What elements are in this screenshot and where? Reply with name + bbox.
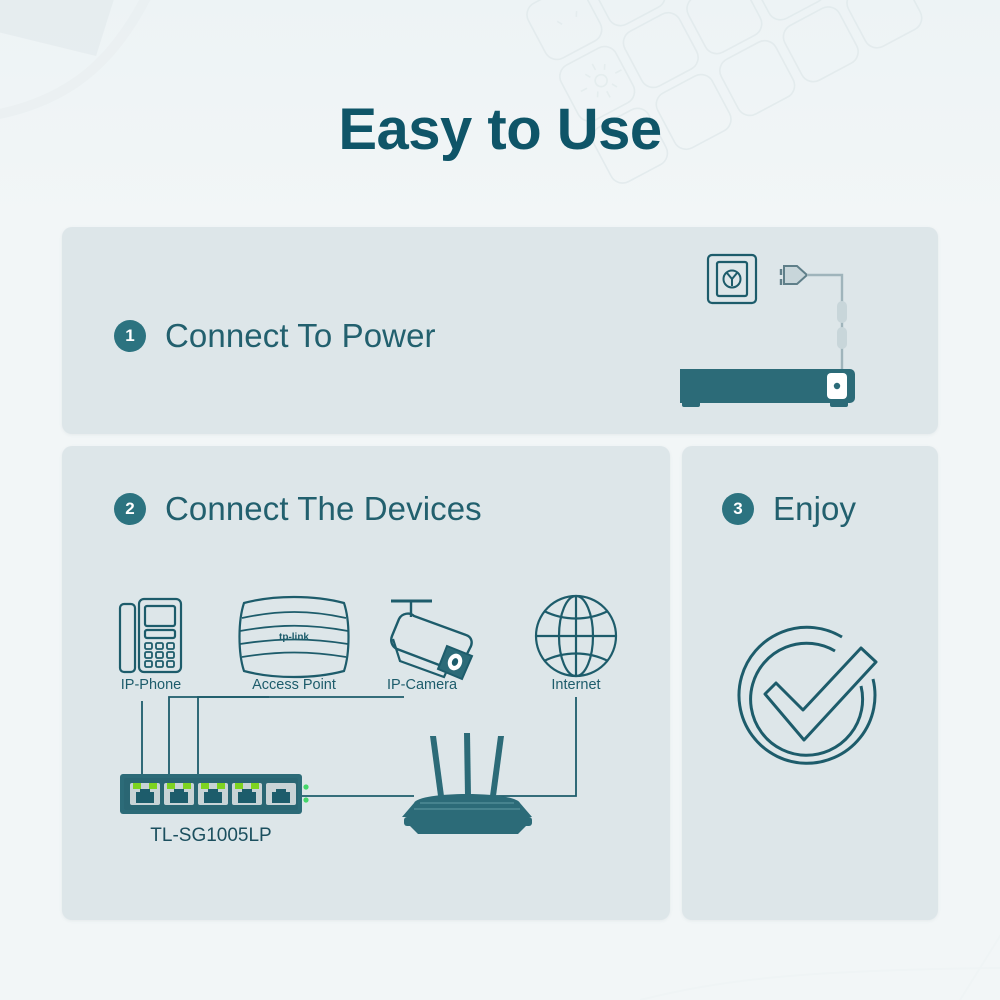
power-connection-figure [680, 245, 880, 425]
globe-icon [536, 596, 616, 676]
network-topology-figure: IP-Phone tp-link Access Point [114, 591, 644, 861]
cable-brick-upper [837, 301, 847, 323]
switch-model-label: TL-SG1005LP [150, 825, 271, 846]
switch-led-2 [303, 797, 308, 802]
ip-phone-icon [120, 599, 181, 672]
ip-camera-icon [391, 601, 472, 679]
network-switch-icon [120, 774, 309, 814]
device-label-internet: Internet [551, 677, 600, 693]
step-header-3: 3 Enjoy [722, 490, 856, 528]
step-title-3: Enjoy [773, 490, 856, 528]
access-point-brand: tp-link [279, 632, 309, 643]
power-plug-icon [781, 266, 807, 285]
panel-step-enjoy: 3 Enjoy [682, 446, 938, 920]
switch-rear-icon [680, 369, 855, 407]
cable-brick-lower [837, 327, 847, 349]
power-cable [807, 275, 842, 385]
enjoy-figure [710, 606, 910, 801]
step-title-2: Connect The Devices [165, 490, 482, 528]
panel-step-connect-to-power: 1 Connect To Power [62, 227, 938, 434]
panel-step-connect-the-devices: 2 Connect The Devices [62, 446, 670, 920]
step-badge-2: 2 [114, 493, 146, 525]
device-label-access-point: Access Point [252, 677, 336, 693]
router-icon [402, 733, 532, 834]
wall-outlet-icon [708, 255, 756, 303]
device-label-ip-phone: IP-Phone [121, 677, 181, 693]
switch-led-1 [303, 784, 308, 789]
device-label-ip-camera: IP-Camera [387, 677, 458, 693]
step-badge-3: 3 [722, 493, 754, 525]
step-title-1: Connect To Power [165, 317, 436, 355]
step-header-1: 1 Connect To Power [114, 317, 436, 355]
page-title: Easy to Use [0, 96, 1000, 163]
check-circle-icon [739, 627, 876, 763]
step-header-2: 2 Connect The Devices [114, 490, 482, 528]
step-badge-1: 1 [114, 320, 146, 352]
